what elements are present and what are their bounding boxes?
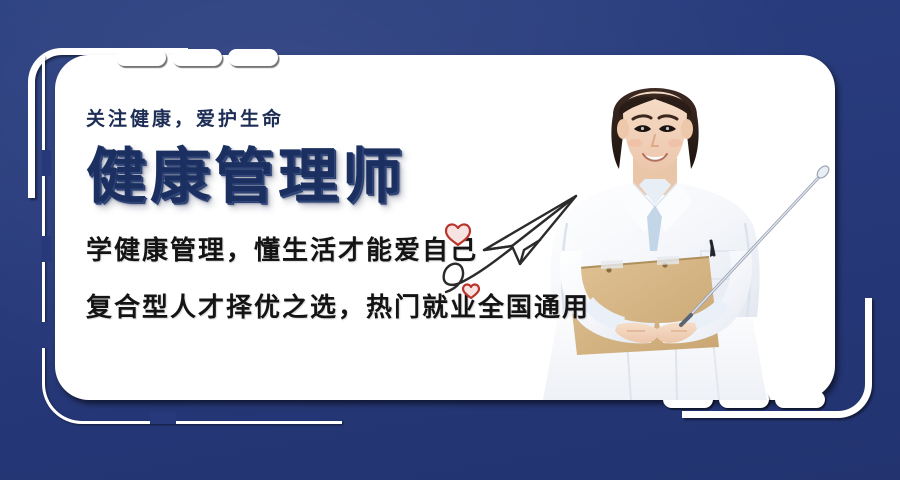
outline-gap [42,322,51,348]
health-manager-banner: 关注健康，爱护生命 健康管理师 学健康管理，懂生活才能爱自己 复合型人才择优之选… [0,0,900,480]
tagline-one: 学健康管理，懂生活才能爱自己 [86,230,606,267]
border-pill [172,49,222,66]
border-pill [719,391,769,408]
border-pill [228,49,278,66]
border-pill [775,391,825,408]
eyebrow-text: 关注健康，爱护生命 [86,104,606,131]
content-card: 关注健康，爱护生命 健康管理师 学健康管理，懂生活才能爱自己 复合型人才择优之选… [55,55,835,400]
page-title: 健康管理师 [86,145,606,208]
border-pill [663,391,713,408]
outline-gap [42,236,51,262]
border-pill [116,49,166,66]
tagline-two: 复合型人才择优之选，热门就业全国通用 [86,287,606,324]
outline-gap [150,412,176,424]
outline-gap [42,150,51,176]
text-block: 关注健康，爱护生命 健康管理师 学健康管理，懂生活才能爱自己 复合型人才择优之选… [86,104,606,324]
